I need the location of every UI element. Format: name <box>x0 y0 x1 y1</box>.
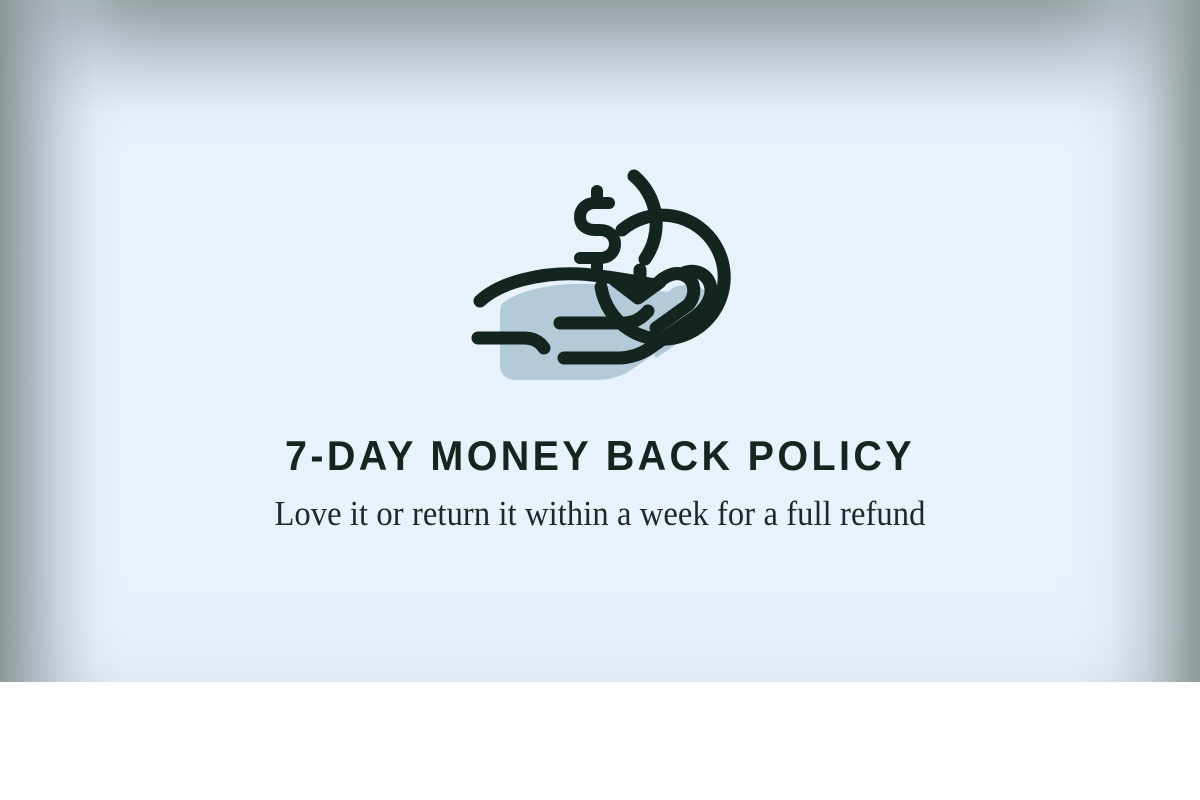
dollar-sign-icon <box>580 191 615 270</box>
promo-subtitle: Love it or return it within a week for a… <box>256 492 944 536</box>
money-back-hand-icon <box>460 158 740 394</box>
hero-panel: 7-DAY MONEY BACK POLICY Love it or retur… <box>0 0 1200 682</box>
promo-banner: 7-DAY MONEY BACK POLICY Love it or retur… <box>0 0 1200 800</box>
footer-bar: Rydell (701) 772-7211 rydellchev.com <box>0 682 1200 800</box>
page-title: 7-DAY MONEY BACK POLICY <box>36 432 1164 480</box>
